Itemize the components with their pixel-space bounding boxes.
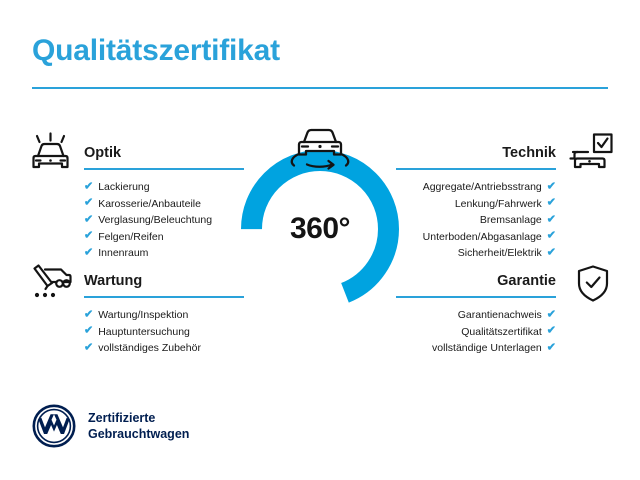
qualitaetszertifikat-page: Qualitätszertifikat Optik ✔Lackierung ✔K… — [0, 0, 640, 480]
check-icon: ✔ — [84, 342, 93, 353]
list-item: ✔Verglasung/Beleuchtung — [84, 212, 244, 229]
list-item: vollständige Unterlagen✔ — [396, 340, 556, 357]
list-item-label: Felgen/Reifen — [98, 229, 163, 246]
section-technik-list: Aggregate/Antriebsstrang✔ Lenkung/Fahrwe… — [396, 179, 556, 262]
check-icon: ✔ — [84, 181, 93, 192]
check-icon: ✔ — [547, 231, 556, 242]
list-item: ✔Wartung/Inspektion — [84, 307, 244, 324]
page-title: Qualitätszertifikat — [32, 34, 280, 68]
list-item-label: Lenkung/Fahrwerk — [455, 196, 542, 213]
list-item: Bremsanlage✔ — [396, 212, 556, 229]
footer-brand-text: Zertifizierte Gebrauchtwagen — [88, 410, 189, 442]
check-icon: ✔ — [547, 309, 556, 320]
section-optik-divider — [84, 168, 244, 170]
title-divider — [32, 87, 608, 89]
section-wartung-list: ✔Wartung/Inspektion ✔Hauptuntersuchung ✔… — [84, 307, 244, 357]
list-item-label: Aggregate/Antriebsstrang — [423, 179, 542, 196]
section-garantie-list: Garantienachweis✔ Qualitätszertifikat✔ v… — [396, 307, 556, 357]
list-item-label: Qualitätszertifikat — [461, 324, 542, 341]
check-icon: ✔ — [84, 326, 93, 337]
footer-brand: Zertifizierte Gebrauchtwagen — [32, 404, 189, 448]
list-item-label: Karosserie/Anbauteile — [98, 196, 201, 213]
list-item: ✔Hauptuntersuchung — [84, 324, 244, 341]
list-item: Qualitätszertifikat✔ — [396, 324, 556, 341]
list-item-label: Wartung/Inspektion — [98, 307, 188, 324]
list-item-label: vollständiges Zubehör — [98, 340, 201, 357]
list-item: ✔Innenraum — [84, 245, 244, 262]
section-garantie-header: Garantie — [396, 272, 556, 298]
list-item: Aggregate/Antriebsstrang✔ — [396, 179, 556, 196]
shield-check-icon — [573, 262, 613, 306]
section-optik: Optik ✔Lackierung ✔Karosserie/Anbauteile… — [84, 144, 244, 262]
check-icon: ✔ — [547, 214, 556, 225]
list-item-label: Unterboden/Abgasanlage — [423, 229, 542, 246]
list-item-label: Sicherheit/Elektrik — [458, 245, 542, 262]
section-optik-title: Optik — [84, 144, 244, 162]
list-item: ✔Lackierung — [84, 179, 244, 196]
section-wartung: Wartung ✔Wartung/Inspektion ✔Hauptunters… — [84, 272, 244, 357]
check-icon: ✔ — [84, 214, 93, 225]
list-item-label: vollständige Unterlagen — [432, 340, 542, 357]
car-lift-checkbox-icon — [568, 132, 614, 176]
section-garantie: Garantie Garantienachweis✔ Qualitätszert… — [396, 272, 556, 357]
section-optik-list: ✔Lackierung ✔Karosserie/Anbauteile ✔Verg… — [84, 179, 244, 262]
check-icon: ✔ — [547, 326, 556, 337]
list-item: Sicherheit/Elektrik✔ — [396, 245, 556, 262]
list-item-label: Lackierung — [98, 179, 149, 196]
list-item-label: Hauptuntersuchung — [98, 324, 190, 341]
section-technik-title: Technik — [396, 144, 556, 162]
section-wartung-title: Wartung — [84, 272, 244, 290]
list-item: Unterboden/Abgasanlage✔ — [396, 229, 556, 246]
list-item: ✔Felgen/Reifen — [84, 229, 244, 246]
section-garantie-title: Garantie — [396, 272, 556, 290]
pen-car-service-icon — [28, 261, 74, 305]
check-icon: ✔ — [547, 181, 556, 192]
section-optik-header: Optik — [84, 144, 244, 170]
list-item-label: Garantienachweis — [458, 307, 542, 324]
section-wartung-divider — [84, 296, 244, 298]
car-front-shine-icon — [28, 132, 74, 176]
list-item: Garantienachweis✔ — [396, 307, 556, 324]
check-icon: ✔ — [547, 247, 556, 258]
section-garantie-divider — [396, 296, 556, 298]
check-icon: ✔ — [84, 309, 93, 320]
check-icon: ✔ — [84, 247, 93, 258]
list-item-label: Innenraum — [98, 245, 148, 262]
list-item: ✔Karosserie/Anbauteile — [84, 196, 244, 213]
check-icon: ✔ — [547, 198, 556, 209]
list-item: Lenkung/Fahrwerk✔ — [396, 196, 556, 213]
list-item: ✔vollständiges Zubehör — [84, 340, 244, 357]
check-icon: ✔ — [547, 342, 556, 353]
section-technik: Technik Aggregate/Antriebsstrang✔ Lenkun… — [396, 144, 556, 262]
section-technik-header: Technik — [396, 144, 556, 170]
check-icon: ✔ — [84, 231, 93, 242]
check-icon: ✔ — [84, 198, 93, 209]
list-item-label: Verglasung/Beleuchtung — [98, 212, 212, 229]
section-technik-divider — [396, 168, 556, 170]
list-item-label: Bremsanlage — [480, 212, 542, 229]
section-wartung-header: Wartung — [84, 272, 244, 298]
car-360-rotation-icon — [283, 124, 357, 176]
volkswagen-logo — [32, 404, 76, 448]
